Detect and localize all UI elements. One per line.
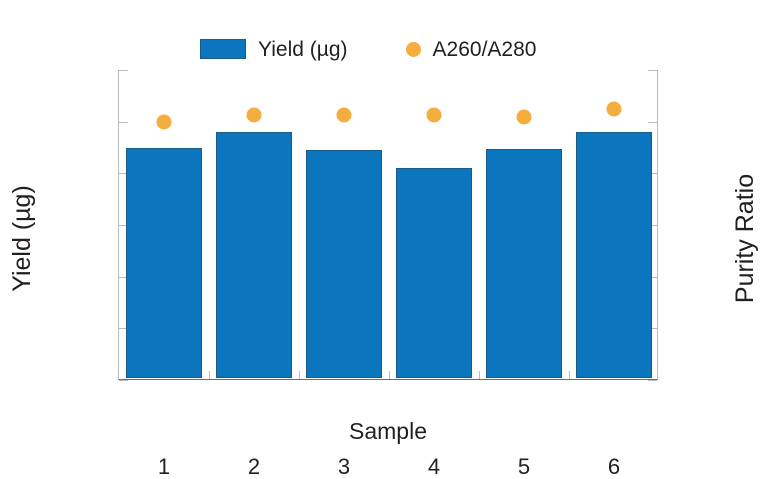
y-axis-left-tick (119, 70, 128, 71)
point-a260-a280-sample-4[interactable] (427, 108, 442, 123)
legend-label-yield: Yield (µg) (258, 39, 348, 60)
bar-sample-6[interactable] (576, 132, 652, 377)
x-axis-tick-label: 1 (134, 456, 194, 478)
legend-entry-yield[interactable]: Yield (µg) (200, 39, 348, 60)
bar-sample-3[interactable] (306, 150, 382, 377)
legend-bar-swatch-icon (200, 39, 246, 59)
point-a260-a280-sample-2[interactable] (247, 108, 262, 123)
plot-area: 12 10 8 6 4 2 0 2.4 2.0 1.6 1.2 0.8 0.4 … (118, 70, 658, 380)
point-a260-a280-sample-1[interactable] (157, 114, 172, 129)
y-axis-left-title-text: Yield (µg) (8, 185, 37, 292)
y-axis-left-tick (119, 122, 128, 123)
x-axis-tick (569, 371, 570, 379)
legend-label-a260-a280: A260/A280 (433, 39, 537, 60)
y-axis-right-tick (648, 380, 657, 381)
x-axis-tick-label: 3 (314, 456, 374, 478)
point-a260-a280-sample-5[interactable] (517, 109, 532, 124)
chart-legend: Yield (µg) A260/A280 (200, 33, 560, 65)
y-axis-left-title: Yield (µg) (2, 0, 42, 477)
x-axis-tick-label: 6 (584, 456, 644, 478)
x-axis-tick (299, 371, 300, 379)
y-axis-right-title: Purity Ratio (726, 0, 766, 477)
chart-figure: Yield (µg) A260/A280 Yield (µg) Purity R… (0, 0, 768, 477)
legend-dot-swatch-icon (406, 42, 421, 57)
x-axis-tick-label: 5 (494, 456, 554, 478)
legend-entry-a260-a280[interactable]: A260/A280 (406, 39, 537, 60)
x-axis-tick (209, 371, 210, 379)
bar-sample-1[interactable] (126, 148, 202, 378)
x-axis-tick-label: 2 (224, 456, 284, 478)
bar-sample-4[interactable] (396, 168, 472, 377)
point-a260-a280-sample-3[interactable] (337, 108, 352, 123)
bar-sample-2[interactable] (216, 132, 292, 377)
y-axis-right-tick (648, 122, 657, 123)
y-axis-right-tick (648, 70, 657, 71)
bar-sample-5[interactable] (486, 149, 562, 378)
x-axis-tick (389, 371, 390, 379)
x-axis-tick (479, 371, 480, 379)
x-axis-title: Sample (118, 418, 658, 445)
y-axis-left-tick (119, 380, 128, 381)
y-axis-right-title-text: Purity Ratio (732, 174, 761, 303)
x-axis-tick-label: 4 (404, 456, 464, 478)
point-a260-a280-sample-6[interactable] (607, 101, 622, 116)
